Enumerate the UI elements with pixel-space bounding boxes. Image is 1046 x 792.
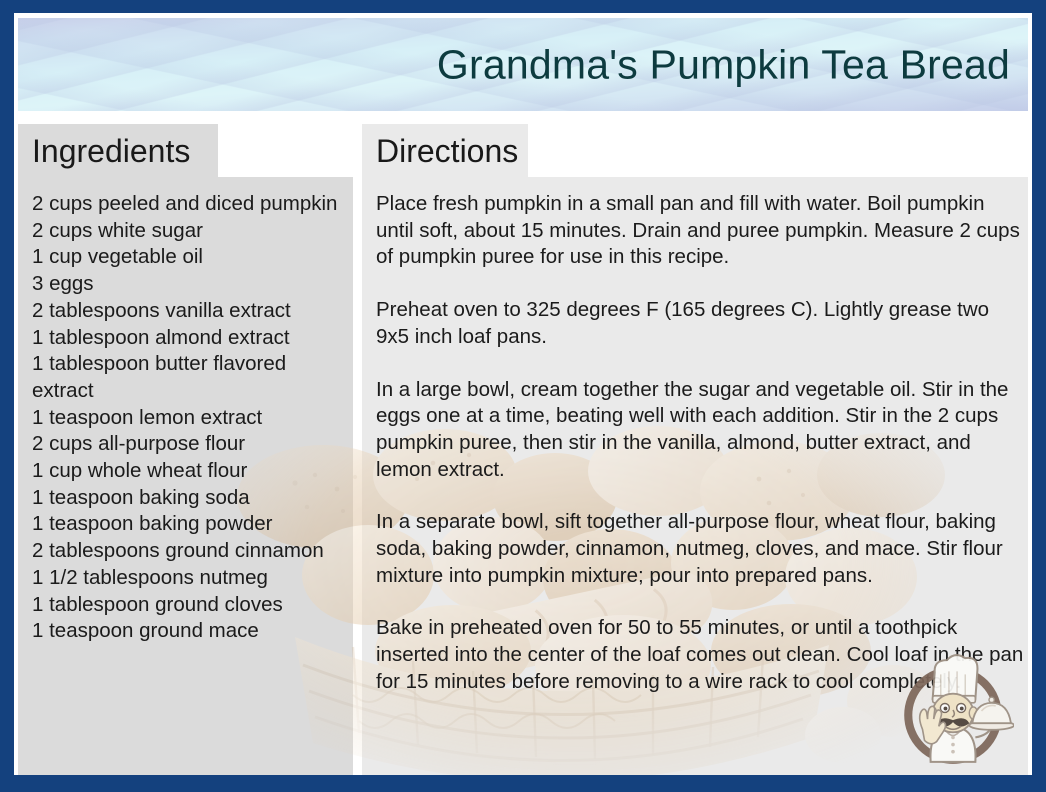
list-item: 2 tablespoons vanilla extract [32,298,343,325]
list-item: 2 cups white sugar [32,218,343,245]
directions-body-wrap: Place fresh pumpkin in a small pan and f… [362,177,1028,696]
list-item: 3 eggs [32,271,343,298]
directions-head: Directions [362,124,1028,177]
direction-step: In a separate bowl, sift together all-pu… [376,509,1024,589]
directions-steps: Place fresh pumpkin in a small pan and f… [376,191,1024,696]
list-item: 1 teaspoon baking soda [32,485,343,512]
ingredient-list: 2 cups peeled and diced pumpkin 2 cups w… [32,191,343,645]
list-item: 1 1/2 tablespoons nutmeg [32,565,343,592]
directions-heading-tab: Directions [362,124,528,177]
directions-heading: Directions [362,135,518,167]
list-item: 2 cups all-purpose flour [32,431,343,458]
direction-step: In a large bowl, cream together the suga… [376,377,1024,484]
ingredients-head: Ingredients [18,124,353,177]
recipe-card: Grandma's Pumpkin Tea Bread Ingredients … [0,0,1046,792]
list-item: 2 cups peeled and diced pumpkin [32,191,343,218]
page-title: Grandma's Pumpkin Tea Bread [437,41,1010,88]
direction-step: Preheat oven to 325 degrees F (165 degre… [376,297,1024,350]
content-panels: Ingredients 2 cups peeled and diced pump… [18,124,1028,775]
recipe-card-inner: Grandma's Pumpkin Tea Bread Ingredients … [14,13,1032,775]
direction-step: Place fresh pumpkin in a small pan and f… [376,191,1024,271]
list-item: 1 cup vegetable oil [32,244,343,271]
list-item: 1 cup whole wheat flour [32,458,343,485]
chef-mascot-logo [892,650,1014,772]
ingredients-heading: Ingredients [18,135,190,167]
list-item: 1 teaspoon baking powder [32,511,343,538]
title-banner: Grandma's Pumpkin Tea Bread [18,18,1028,111]
list-item: 2 tablespoons ground cinnamon [32,538,343,565]
list-item: 1 teaspoon ground mace [32,618,343,645]
list-item: 1 tablespoon ground cloves [32,592,343,619]
ingredients-panel: Ingredients 2 cups peeled and diced pump… [18,124,353,775]
list-item: 1 teaspoon lemon extract [32,405,343,432]
ingredients-body: 2 cups peeled and diced pumpkin 2 cups w… [18,177,353,645]
list-item: 1 tablespoon butter flavored [32,351,343,378]
ingredients-heading-tab: Ingredients [18,124,218,177]
list-item: 1 tablespoon almond extract [32,325,343,352]
list-item: extract [32,378,343,405]
